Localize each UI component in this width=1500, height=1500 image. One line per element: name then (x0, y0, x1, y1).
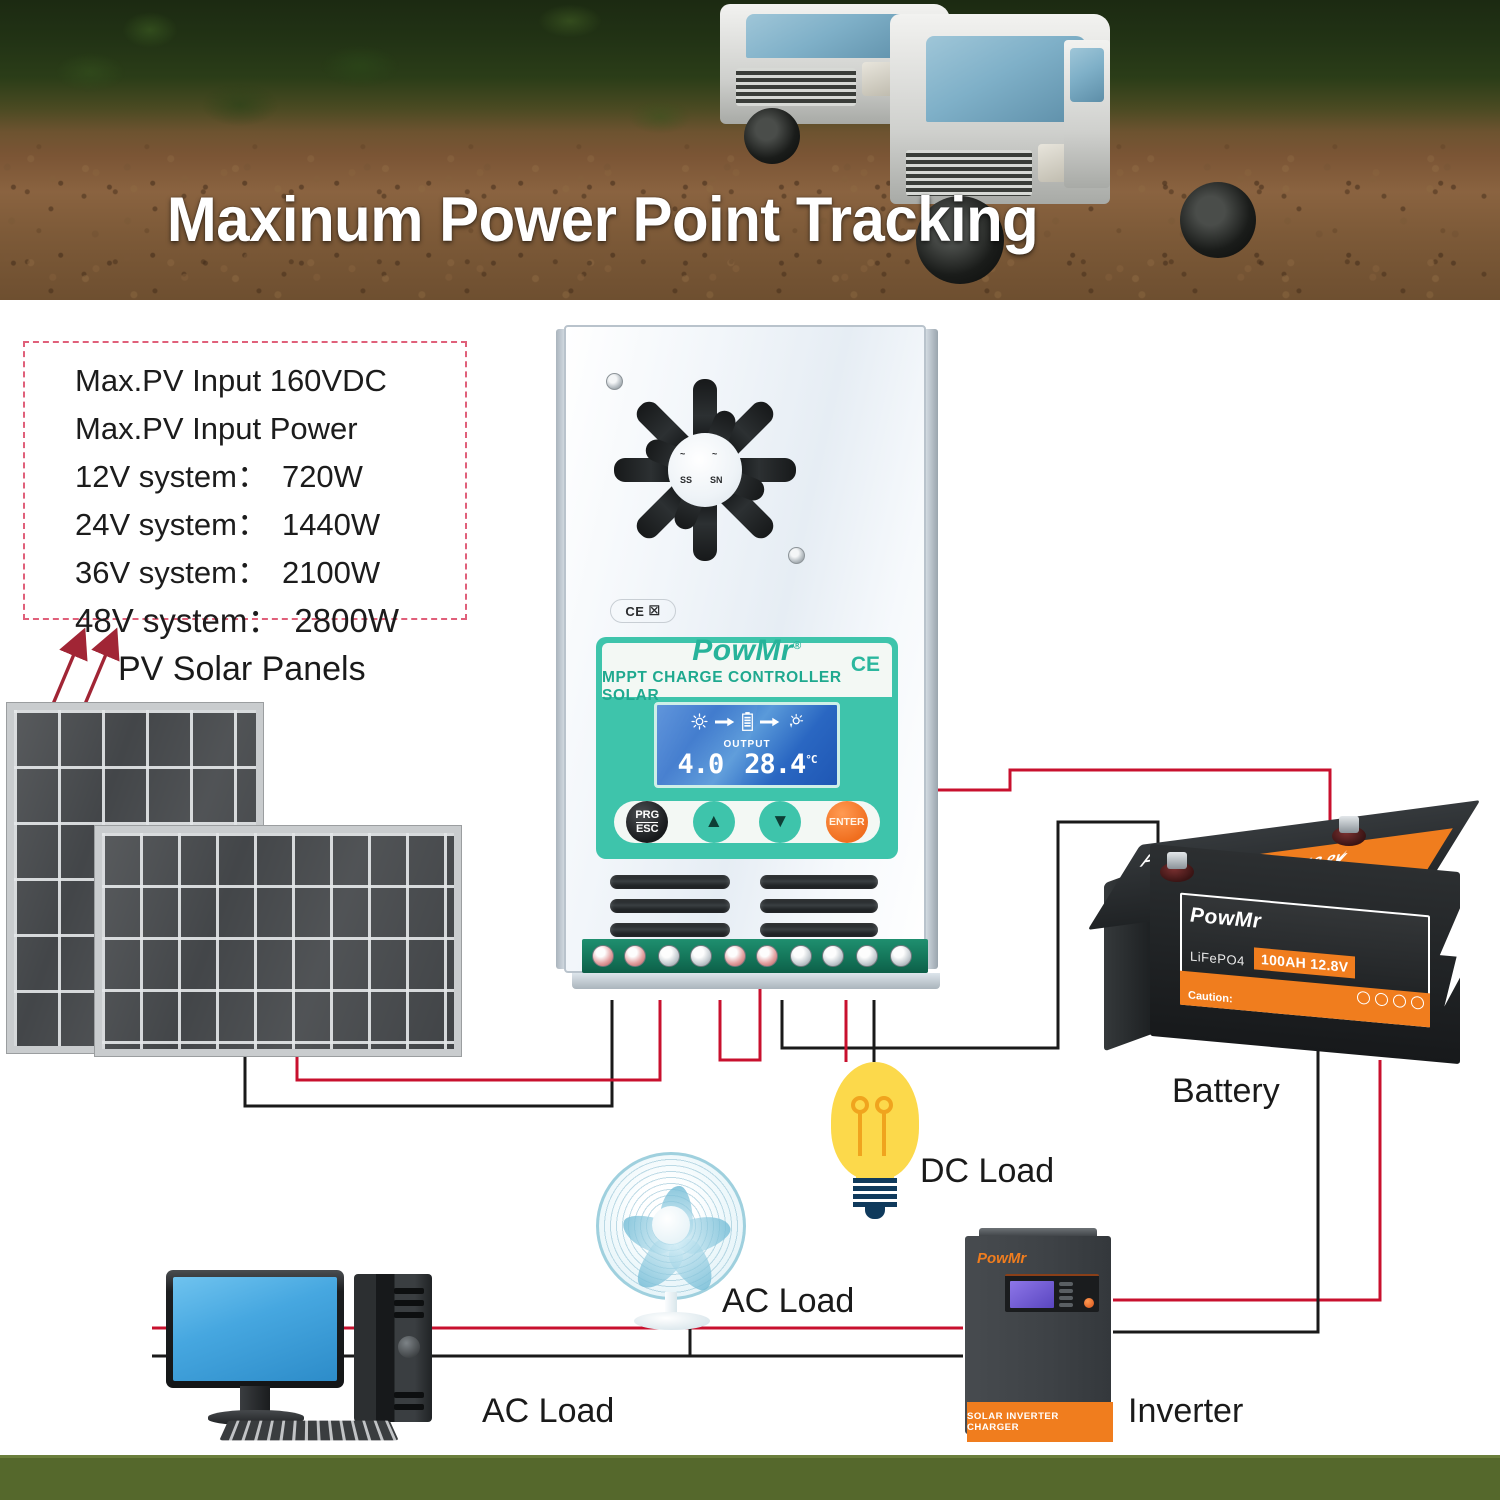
controller-button-row: PRG ESC ▲ ▼ ENTER (602, 793, 892, 851)
controller-body: ~ ~ SS SN CE ☒ PowMr® CE MPPT CHAR (564, 325, 926, 973)
spec-line-max-pv-input: Max.PV Input 160VDC (75, 357, 399, 405)
inverter-keys[interactable] (1059, 1282, 1073, 1307)
no-fire-icon (1357, 991, 1370, 1005)
monitor-screen (173, 1277, 337, 1381)
mppt-charge-controller: ~ ~ SS SN CE ☒ PowMr® CE MPPT CHAR (556, 325, 942, 1005)
arrow-right-icon (715, 716, 735, 728)
light-bulb-icon (825, 1062, 925, 1222)
banner-title-line1: Maxinum Power Point Tracking (167, 185, 1038, 255)
ce-mark-icon: CE (851, 653, 880, 677)
battery-terminal-positive (1332, 826, 1366, 846)
ce-compliance-icon: CE ☒ (610, 599, 676, 623)
keyboard (219, 1421, 398, 1441)
controller-faceplate: PowMr® CE MPPT CHARGE CONTROLLER SOLAR (596, 637, 898, 859)
hero-banner: Maxinum Power Point Tracking Quick Conne… (0, 0, 1500, 300)
spec-row-12v: 12V system：720W (75, 453, 399, 501)
lcd-readouts: 4.0 28.4°C (657, 751, 837, 778)
spec-power-36v: 2100W (282, 555, 380, 590)
inverter-power-led-icon (1084, 1298, 1094, 1308)
solar-panel-front (94, 825, 462, 1057)
label-battery: Battery (1172, 1072, 1280, 1111)
bottom-color-band (0, 1455, 1500, 1500)
inverter-footer-label: SOLAR INVERTER CHARGER (967, 1411, 1113, 1433)
banner-title: Maxinum Power Point Tracking Quick Conne… (70, 106, 1343, 300)
controller-base (572, 973, 940, 989)
battery-caution-label: Caution: (1188, 989, 1233, 1005)
inverter-control-panel (1005, 1274, 1099, 1312)
inverter-brand: PowMr (977, 1250, 1026, 1267)
lithium-battery: 100AH 12.8V PowMr PowMr LiFePO4 100AH 12… (1104, 800, 1500, 1065)
inverter-screen (1010, 1281, 1054, 1308)
terminal-block (582, 939, 928, 973)
solar-inverter: PowMr SOLAR INVERTER CHARGER (963, 1228, 1113, 1446)
prg-label: PRG (635, 810, 659, 821)
lcd-output-value: 4.0 (677, 751, 723, 778)
battery-icon (742, 712, 753, 731)
spec-power-48v: 2800W (294, 602, 399, 639)
vent-screw-bottom-right (788, 547, 805, 564)
bulb-base (853, 1178, 897, 1208)
arrow-right-icon (760, 716, 780, 728)
lcd-status-icons (657, 712, 837, 731)
esc-label: ESC (636, 824, 659, 835)
label-ac-load-fan: AC Load (722, 1282, 854, 1321)
prg-esc-button[interactable]: PRG ESC (626, 801, 668, 843)
up-button[interactable]: ▲ (693, 801, 735, 843)
pc-tower (354, 1274, 432, 1422)
spec-row-48v: 48V system：2800W (75, 597, 399, 645)
lcd-area: OUTPUT 4.0 28.4°C (602, 697, 892, 793)
spec-system-12v: 12V system： (75, 459, 268, 494)
monitor (166, 1270, 344, 1388)
fan-base (634, 1312, 710, 1330)
registered-mark-icon: ® (793, 640, 802, 652)
label-ac-load-pc: AC Load (482, 1392, 614, 1431)
label-inverter: Inverter (1128, 1392, 1243, 1431)
battery-warning-icons (1357, 991, 1424, 1010)
desktop-computer (166, 1258, 466, 1448)
battery-terminal-negative (1160, 862, 1194, 882)
weee-bin-icon: ☒ (648, 603, 660, 619)
spec-system-36v: 36V system： (75, 555, 268, 590)
down-button[interactable]: ▼ (759, 801, 801, 843)
controller-brand: PowMr® (692, 636, 801, 666)
cooling-fan-vent-icon: ~ ~ SS SN (614, 379, 796, 561)
bulb-tip (865, 1205, 885, 1219)
spec-row-24v: 24V system：1440W (75, 501, 399, 549)
label-dc-load: DC Load (920, 1152, 1054, 1191)
no-disassemble-icon (1393, 994, 1406, 1008)
fan-hub: ~ ~ SS SN (668, 433, 742, 507)
spec-list: Max.PV Input 160VDC Max.PV Input Power 1… (75, 357, 399, 645)
spec-box: Max.PV Input 160VDC Max.PV Input Power 1… (23, 341, 467, 620)
spec-row-36v: 36V system：2100W (75, 549, 399, 597)
warning-icon (1411, 996, 1424, 1010)
infographic-stage: Maxinum Power Point Tracking Quick Conne… (0, 0, 1500, 1500)
fan-hub-cap (652, 1206, 690, 1244)
ce-oval-ce-text: CE (625, 604, 644, 619)
vent-screw-top-left (606, 373, 623, 390)
spec-system-24v: 24V system： (75, 507, 268, 542)
bulb-filament-icon (847, 1096, 903, 1158)
spec-power-24v: 1440W (282, 507, 380, 542)
solar-panel-front-glass (102, 833, 454, 1049)
battery-label: PowMr LiFePO4 100AH 12.8V Caution: (1180, 893, 1430, 1028)
lcd-temperature-unit: °C (805, 753, 816, 766)
pc-tower-logo (398, 1336, 420, 1358)
lcd-temperature: 28.4°C (744, 751, 816, 778)
lamp-icon (787, 713, 804, 730)
inverter-body: PowMr SOLAR INVERTER CHARGER (965, 1236, 1111, 1434)
no-water-icon (1375, 992, 1388, 1006)
label-pv-solar-panels: PV Solar Panels (118, 650, 366, 689)
spec-line-max-pv-power: Max.PV Input Power (75, 405, 399, 453)
inverter-footer-band: SOLAR INVERTER CHARGER (967, 1402, 1113, 1442)
enter-button[interactable]: ENTER (826, 801, 868, 843)
spec-system-48v: 48V system： (75, 602, 280, 639)
controller-brand-panel: PowMr® CE MPPT CHARGE CONTROLLER SOLAR (602, 643, 892, 697)
lcd-display: OUTPUT 4.0 28.4°C (654, 702, 840, 788)
sun-icon (691, 713, 708, 730)
spec-power-12v: 720W (282, 459, 363, 494)
